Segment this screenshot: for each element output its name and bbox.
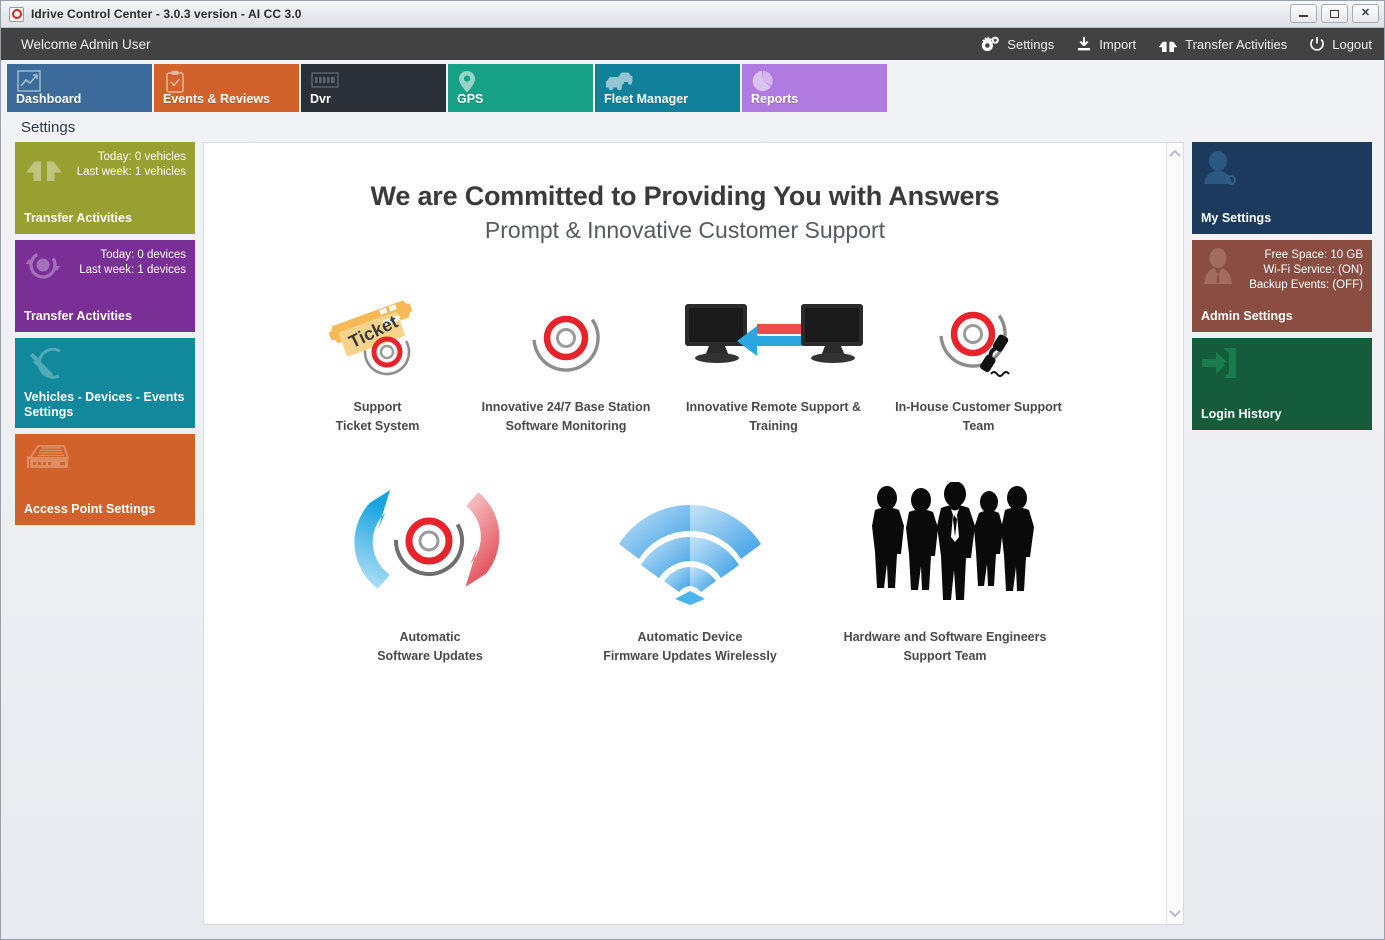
card-title: Vehicles - Devices - Events Settings <box>24 390 186 420</box>
scrollbar-down-button[interactable] <box>1169 907 1182 920</box>
header-transfer-activities-button[interactable]: Transfer Activities <box>1158 36 1287 53</box>
feature-in-house-support-team: In-House Customer Support Team <box>879 290 1079 436</box>
promo-subheadline: Prompt & Innovative Customer Support <box>224 217 1146 244</box>
tab-dashboard[interactable]: Dashboard <box>7 64 152 112</box>
team-silhouette-icon <box>855 476 1035 616</box>
card-transfer-activities-devices[interactable]: Today: 0 devices Last week: 1 devices Tr… <box>15 240 195 332</box>
app-logo-icon <box>9 7 24 22</box>
header-settings-label: Settings <box>1007 37 1054 52</box>
page-title-bar: Settings <box>1 112 1384 142</box>
feature-automatic-software-updates: Automatic Software Updates <box>305 476 555 666</box>
transfer-arrows-icon <box>1158 36 1178 53</box>
tab-reports[interactable]: Reports <box>742 64 887 112</box>
left-sidebar: Today: 0 vehicles Last week: 1 vehicles … <box>15 142 195 925</box>
content-scrollbar[interactable] <box>1166 143 1183 924</box>
main-content-panel: We are Committed to Providing You with A… <box>203 142 1184 925</box>
feature-remote-support-training: Innovative Remote Support & Training <box>669 290 879 436</box>
header-import-label: Import <box>1099 37 1136 52</box>
card-vehicles-devices-events-settings[interactable]: Vehicles - Devices - Events Settings <box>15 338 195 428</box>
card-stat-line: Free Space: 10 GB <box>1249 248 1363 263</box>
wifi-icon <box>615 476 765 616</box>
page-title: Settings <box>21 119 75 136</box>
card-stat-line: Backup Events: (OFF) <box>1249 278 1363 293</box>
card-title: My Settings <box>1201 211 1363 226</box>
target-phone-icon <box>929 290 1029 386</box>
promo-headline: We are Committed to Providing You with A… <box>224 181 1146 213</box>
card-title: Access Point Settings <box>24 502 186 517</box>
refresh-target-icon <box>341 476 519 616</box>
close-button[interactable]: ✕ <box>1352 4 1379 23</box>
feature-support-ticket-system: Ticket Support Ticket System <box>292 290 464 436</box>
promo-block: We are Committed to Providing You with A… <box>204 143 1166 244</box>
title-bar: Idrive Control Center - 3.0.3 version - … <box>1 1 1384 28</box>
content-scroll-region: We are Committed to Providing You with A… <box>204 143 1166 924</box>
card-admin-settings[interactable]: Free Space: 10 GB Wi-Fi Service: (ON) Ba… <box>1192 240 1372 332</box>
power-icon <box>1309 36 1325 52</box>
feature-firmware-updates-wireless: Automatic Device Firmware Updates Wirele… <box>555 476 825 666</box>
feature-caption: Hardware and Software Engineers Support … <box>844 628 1047 666</box>
card-stats: Today: 0 devices Last week: 1 devices <box>79 248 186 278</box>
card-access-point-settings[interactable]: Access Point Settings <box>15 434 195 525</box>
header-logout-label: Logout <box>1332 37 1372 52</box>
main-tab-strip: Dashboard Events & Reviews <box>1 60 1384 112</box>
card-stat-line: Wi-Fi Service: (ON) <box>1249 263 1363 278</box>
card-title: Transfer Activities <box>24 211 186 226</box>
download-icon <box>1076 36 1092 52</box>
welcome-message: Welcome Admin User <box>21 37 151 52</box>
feature-caption: Automatic Software Updates <box>377 628 483 666</box>
tab-gps-label: GPS <box>457 92 483 106</box>
tab-dvr-events-label: Events & Reviews <box>163 92 270 106</box>
ticket-target-icon: Ticket <box>323 290 433 386</box>
header-transfer-label: Transfer Activities <box>1185 37 1287 52</box>
window-title: Idrive Control Center - 3.0.3 version - … <box>31 7 302 21</box>
top-header-bar: Welcome Admin User Settings <box>1 28 1384 60</box>
header-import-button[interactable]: Import <box>1076 36 1136 52</box>
feature-caption: In-House Customer Support Team <box>895 398 1062 436</box>
feature-row-1: Ticket Support Ticket System <box>204 290 1166 436</box>
scrollbar-up-button[interactable] <box>1169 147 1182 160</box>
right-sidebar: My Settings Free Space: 10 GB Wi-Fi Serv… <box>1192 142 1372 925</box>
user-icon <box>1201 150 1239 191</box>
tab-dvr-label: Dvr <box>310 92 331 106</box>
header-settings-button[interactable]: Settings <box>981 36 1054 53</box>
tab-dashboard-label: Dashboard <box>16 92 81 106</box>
dual-monitor-transfer-icon <box>679 290 869 386</box>
card-stats: Today: 0 vehicles Last week: 1 vehicles <box>77 150 186 180</box>
tab-fleet-manager[interactable]: Fleet Manager <box>595 64 740 112</box>
feature-row-2: Automatic Software Updates <box>204 476 1166 666</box>
header-logout-button[interactable]: Logout <box>1309 36 1372 52</box>
body-area: Today: 0 vehicles Last week: 1 vehicles … <box>1 142 1384 939</box>
card-stat-line: Today: 0 devices <box>79 248 186 263</box>
feature-engineers-support-team: Hardware and Software Engineers Support … <box>825 476 1065 666</box>
target-monitoring-icon <box>524 290 608 386</box>
card-title: Admin Settings <box>1201 309 1363 324</box>
transfer-arrows-icon <box>24 150 64 187</box>
tab-fleet-manager-label: Fleet Manager <box>604 92 688 106</box>
tab-reports-label: Reports <box>751 92 798 106</box>
card-stats: Free Space: 10 GB Wi-Fi Service: (ON) Ba… <box>1249 248 1363 293</box>
login-door-icon <box>1201 346 1239 385</box>
tab-gps[interactable]: GPS <box>448 64 593 112</box>
tab-dvr[interactable]: Dvr <box>301 64 446 112</box>
card-login-history[interactable]: Login History <box>1192 338 1372 430</box>
minimize-button[interactable] <box>1290 4 1317 23</box>
window-controls: ✕ <box>1290 4 1379 23</box>
tab-events-reviews[interactable]: Events & Reviews <box>154 64 299 112</box>
wrench-icon <box>24 346 64 387</box>
gear-icon <box>981 36 1000 53</box>
feature-caption: Automatic Device Firmware Updates Wirele… <box>603 628 777 666</box>
admin-user-icon <box>1201 248 1235 291</box>
feature-caption: Innovative Remote Support & Training <box>686 398 861 436</box>
application-window: Idrive Control Center - 3.0.3 version - … <box>0 0 1385 940</box>
card-transfer-activities-vehicles[interactable]: Today: 0 vehicles Last week: 1 vehicles … <box>15 142 195 234</box>
router-icon <box>24 442 72 481</box>
feature-caption: Support Ticket System <box>336 398 420 436</box>
card-stat-line: Last week: 1 devices <box>79 263 186 278</box>
card-stat-line: Today: 0 vehicles <box>77 150 186 165</box>
card-title: Transfer Activities <box>24 309 186 324</box>
feature-caption: Innovative 24/7 Base Station Software Mo… <box>482 398 651 436</box>
card-stat-line: Last week: 1 vehicles <box>77 165 186 180</box>
device-sync-icon <box>24 248 62 287</box>
header-actions: Settings Import Transf <box>981 36 1372 53</box>
card-title: Login History <box>1201 407 1363 422</box>
feature-base-station-monitoring: Innovative 24/7 Base Station Software Mo… <box>464 290 669 436</box>
card-my-settings[interactable]: My Settings <box>1192 142 1372 234</box>
maximize-button[interactable] <box>1321 4 1348 23</box>
